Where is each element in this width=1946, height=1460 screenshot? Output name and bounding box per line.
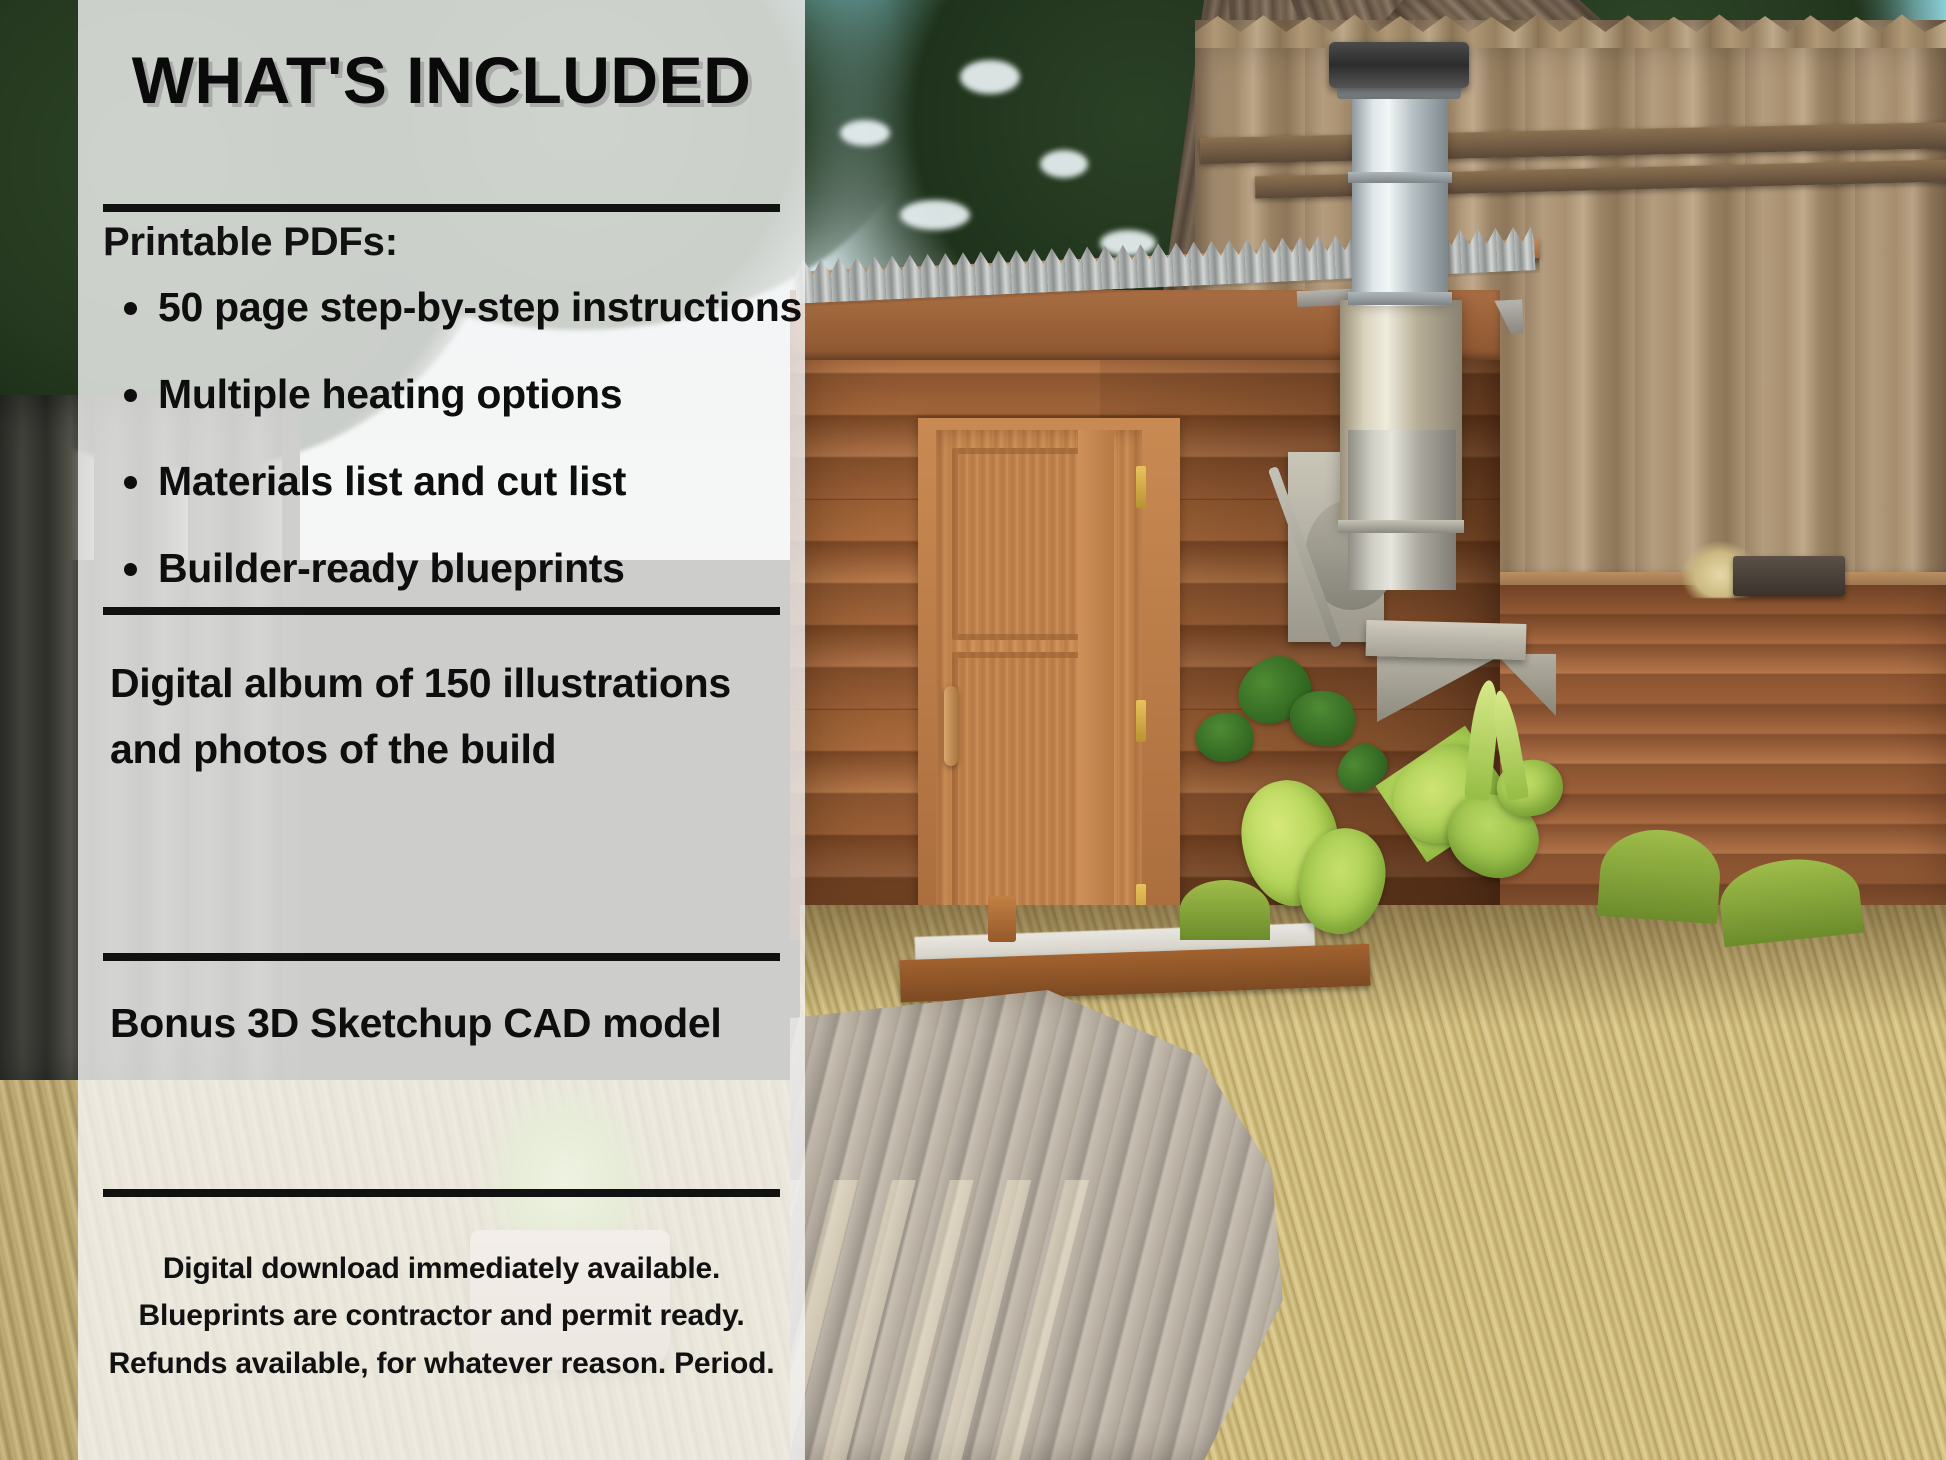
list-item: Materials list and cut list bbox=[106, 460, 806, 503]
door-panel bbox=[952, 448, 1084, 640]
pipe-band bbox=[1348, 172, 1452, 183]
door-handle bbox=[944, 686, 958, 766]
sky-gap bbox=[960, 60, 1020, 94]
digital-album-line-2: and photos of the build bbox=[110, 716, 810, 782]
fineprint-section: Digital download immediately available. … bbox=[78, 1245, 805, 1387]
divider-rule-1 bbox=[103, 204, 780, 212]
stove-pipe-upper bbox=[1352, 96, 1448, 306]
grass-tuft bbox=[1180, 880, 1270, 940]
door-panel bbox=[952, 652, 1084, 932]
pipe-band bbox=[1338, 520, 1464, 533]
door-hinge bbox=[1136, 466, 1146, 508]
divider-rule-2 bbox=[103, 607, 780, 615]
bench-box bbox=[1733, 556, 1845, 596]
bonus-cad-model-section: Bonus 3D Sketchup CAD model bbox=[110, 1000, 810, 1047]
door-hinge bbox=[1136, 700, 1146, 742]
pipe-band bbox=[1348, 292, 1452, 305]
stove-pipe-lower bbox=[1348, 430, 1456, 590]
list-item: 50 page step-by-step instructions bbox=[106, 286, 806, 329]
digital-album-section: Digital album of 150 illustrations and p… bbox=[110, 650, 810, 783]
digital-album-line-1: Digital album of 150 illustrations bbox=[110, 650, 810, 716]
chimney-shelf bbox=[1366, 620, 1527, 660]
fineprint-line-2: Blueprints are contractor and permit rea… bbox=[78, 1292, 805, 1339]
fineprint-line-3: Refunds available, for whatever reason. … bbox=[78, 1340, 805, 1387]
list-item: Multiple heating options bbox=[106, 373, 806, 416]
divider-rule-3 bbox=[103, 953, 780, 961]
included-items-list: 50 page step-by-step instructions Multip… bbox=[106, 286, 806, 634]
chimney-rain-cap bbox=[1329, 42, 1469, 88]
marketing-graphic: WHAT'S INCLUDED Printable PDFs: 50 page … bbox=[0, 0, 1946, 1460]
info-panel-content: WHAT'S INCLUDED Printable PDFs: 50 page … bbox=[78, 0, 805, 1460]
deck-post-cap bbox=[988, 896, 1016, 942]
subheading-printable-pdfs: Printable PDFs: bbox=[103, 220, 793, 265]
list-item: Builder-ready blueprints bbox=[106, 547, 806, 590]
sky-gap bbox=[840, 120, 890, 146]
sky-gap bbox=[900, 200, 970, 230]
fineprint-line-1: Digital download immediately available. bbox=[78, 1245, 805, 1292]
divider-rule-4 bbox=[103, 1189, 780, 1197]
door-stile bbox=[1078, 430, 1114, 940]
page-title: WHAT'S INCLUDED bbox=[78, 42, 805, 118]
sky-gap bbox=[1040, 150, 1088, 178]
